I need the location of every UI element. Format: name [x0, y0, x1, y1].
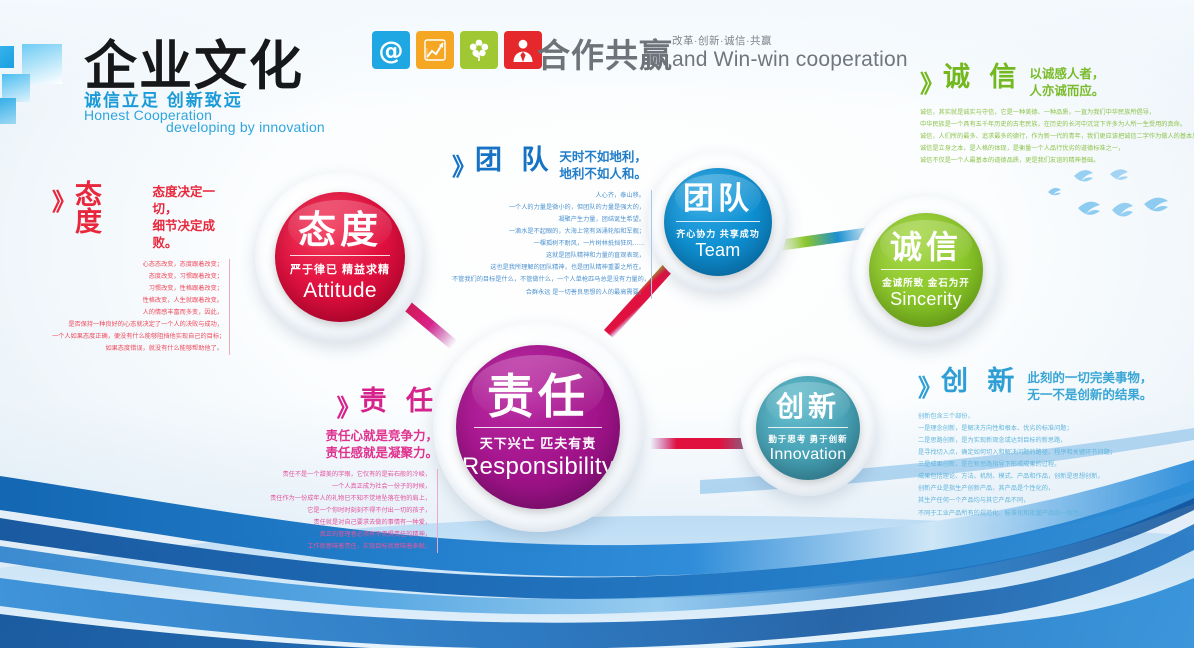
- body-line: 不同于工业产品所有的规范化、标准化和批量产品的一致性。: [918, 508, 1192, 520]
- block-motto-innovation-1: 此刻的一切完美事物，: [1027, 370, 1152, 387]
- body-line: 工作就意味着责任，实现目标就意味着奉献。: [242, 541, 431, 553]
- body-line: 责任就是对自己要求去做的事情有一种爱，: [242, 517, 431, 529]
- body-line: 责任作为一份成年人的礼物已不知不觉地坠落在他的肩上，: [242, 493, 431, 505]
- text-block-sincerity: 》 诚 信 以诚感人者， 人亦诚而应。 诚信，其实就是诚实与守信，它是一种美德、…: [920, 64, 1192, 167]
- chevron-icon: 》: [918, 368, 937, 403]
- body-line: 一滴水是不起眼的，大海上常有汹涌轮船和军舰；: [452, 226, 645, 238]
- body-line: 合群永远 是一切善良思想的人的最高需要。: [452, 287, 645, 299]
- block-motto-team-2: 地利不如人和。: [559, 166, 647, 183]
- body-line: 一个人的力量是微小的，但团队的力量是强大的，: [452, 202, 645, 214]
- body-line: 它是一个你时时刻刻不得不付出一切的孩子，: [242, 505, 431, 517]
- block-body-innovation: 创新包含三个部份，一是理念创新，是解决方向性和根本、优劣的标准问题；二是思路创新…: [918, 411, 1192, 520]
- body-line: 诚信，人们所的最多、追求最多的德行，作为新一代的青年，我们更应该把诚信二字作为做…: [920, 131, 1192, 143]
- body-line: 责任不是一个甜美的字眼，它仅有的是岩石般的冷峻，: [242, 469, 431, 481]
- chevron-icon: 》: [920, 64, 939, 99]
- body-line: 这就是团队精神和力量的直观表现，: [452, 250, 645, 262]
- block-motto-attitude-2: 细节决定成败。: [152, 218, 230, 252]
- block-title-sincerity: 诚 信: [943, 64, 1021, 91]
- block-motto-responsibility-1: 责任心就是竞争力，: [325, 428, 438, 445]
- birds-flock-icon: [1040, 168, 1190, 258]
- block-title-team: 团 队: [475, 147, 553, 174]
- node-attitude-en: Attitude: [303, 279, 377, 302]
- block-motto-innovation-2: 无一不是创新的结果。: [1027, 387, 1152, 404]
- node-innovation-en: Innovation: [770, 446, 847, 464]
- node-sincerity[interactable]: 诚信 金诚所致 金石为开 Sincerity: [852, 196, 1000, 344]
- block-motto-sincerity-2: 人亦诚而应。: [1029, 83, 1104, 100]
- body-line: 诚信，其实就是诚实与守信，它是一种美德、一种品质，一直为我们中华民族所倡导，: [920, 107, 1192, 119]
- block-body-responsibility: 责任不是一个甜美的字眼，它仅有的是岩石般的冷峻，一个人真正成为社会一份子的时候，…: [242, 469, 438, 554]
- node-innovation[interactable]: 创新 勤于思考 勇于创新 Innovation: [740, 360, 876, 496]
- text-block-responsibility: 》 责 任 责任心就是竞争力， 责任感就是凝聚力。 责任不是一个甜美的字眼，它仅…: [242, 388, 438, 553]
- chevron-icon: 》: [337, 388, 356, 423]
- body-line: 一个人真正成为社会一份子的时候，: [242, 481, 431, 493]
- body-line: 创新产业是指生产创新产品，其产品是个性化的，: [918, 483, 1192, 495]
- body-line: 真正的管理者必须有不畏惧责任的精神，: [242, 529, 431, 541]
- block-title-attitude: 态 度: [75, 182, 144, 236]
- chevron-icon: 》: [452, 147, 471, 182]
- block-body-team: 人心齐，泰山移。一个人的力量是微小的，但团队的力量是强大的，凝聚产生力量，团结诞…: [452, 190, 652, 299]
- node-attitude-slogan: 严于律已 精益求精: [290, 261, 390, 277]
- node-attitude-title: 态度: [298, 211, 382, 249]
- body-line: 中华民族是一个具有五千年历史的古老民族，在历史的长河中沉淀下许多为人所一生受用的…: [920, 119, 1192, 131]
- node-innovation-disc: 创新 勤于思考 勇于创新 Innovation: [756, 376, 860, 480]
- node-responsibility[interactable]: 责任 天下兴亡 匹夫有责 Responsibility: [433, 322, 643, 532]
- node-sincerity-en: Sincerity: [890, 290, 962, 310]
- text-block-team: 》 团 队 天时不如地利， 地利不如人和。 人心齐，泰山移。一个人的力量是微小的…: [452, 147, 652, 299]
- body-line: 习惯改变，性格跟着改变；: [52, 283, 223, 295]
- node-innovation-slogan: 勤于思考 勇于创新: [768, 433, 847, 445]
- body-line: 是寻找切入点，确定如何切入和解决问题的路径、程序和关键环节问题；: [918, 447, 1192, 459]
- chevron-icon: 》: [52, 182, 71, 217]
- body-line: 如果态度错误，就没有什么能够帮助他了。: [52, 343, 223, 355]
- node-responsibility-disc: 责任 天下兴亡 匹夫有责 Responsibility: [456, 345, 620, 509]
- body-line: 人心齐，泰山移。: [452, 190, 645, 202]
- node-attitude[interactable]: 态度 严于律已 精益求精 Attitude: [255, 172, 425, 342]
- block-body-attitude: 心态态改变，态度跟着改变；态度改变，习惯跟着改变；习惯改变，性格跟着改变；性格改…: [52, 259, 230, 356]
- body-line: 诚信不仅是一个人最基本的道德品质，更是我们友谊的精神基础。: [920, 155, 1192, 167]
- node-responsibility-slogan: 天下兴亡 匹夫有责: [480, 433, 597, 452]
- body-line: 诚信是立身之本，是人格的体现，是衡量一个人品行优劣的道德标准之一，: [920, 143, 1192, 155]
- body-line: 是否保持一种良好的心态就决定了一个人的决败与成功，: [52, 319, 223, 331]
- body-line: 一个人如果态度正确，便没有什么能够阻挡他实现自己的目标；: [52, 331, 223, 343]
- block-body-sincerity: 诚信，其实就是诚实与守信，它是一种美德、一种品质，一直为我们中华民族所倡导，中华…: [920, 107, 1192, 167]
- body-line: 二是思路创新，是为实现新观念或达到目标的新思路，: [918, 435, 1192, 447]
- node-innovation-title: 创新: [776, 393, 840, 421]
- body-line: 不管我们的目标是什么，不管做什么，一个人单枪匹马总是没有力量的，: [452, 274, 645, 286]
- body-line: 成果包括理论、方法、机制、模式、产品和作品，创新是思想创新，: [918, 471, 1192, 483]
- node-team-en: Team: [695, 241, 740, 261]
- node-sincerity-title: 诚信: [890, 231, 962, 263]
- body-line: 一是理念创新，是解决方向性和根本、优劣的标准问题；: [918, 423, 1192, 435]
- poster-canvas: 企业文化 诚信立足 创新致远 Honest Cooperation develo…: [0, 0, 1194, 648]
- node-sincerity-slogan: 金诚所致 金石为开: [882, 275, 970, 289]
- body-line: 一棵孤树不耐风，一片树林抵挡狂风……: [452, 238, 645, 250]
- block-title-responsibility: 责 任: [360, 388, 438, 415]
- node-responsibility-title: 责任: [487, 374, 589, 421]
- block-motto-team-1: 天时不如地利，: [559, 149, 647, 166]
- node-responsibility-en: Responsibility: [462, 454, 614, 480]
- block-motto-responsibility-2: 责任感就是凝聚力。: [325, 445, 438, 462]
- body-line: 性格改变，人生就跟着改变。: [52, 295, 223, 307]
- body-line: 创新包含三个部份，: [918, 411, 1192, 423]
- body-line: 这也是我所理解的团队精神，也是团队精神重要之所在。: [452, 262, 645, 274]
- body-line: 心态态改变，态度跟着改变；: [52, 259, 223, 271]
- body-line: 其生产任何一个产品均与其它产品不同，: [918, 495, 1192, 507]
- node-team-title: 团队: [683, 184, 753, 215]
- block-title-innovation: 创 新: [941, 368, 1019, 395]
- block-motto-attitude-1: 态度决定一切，: [152, 184, 230, 218]
- body-line: 态度改变，习惯跟着改变；: [52, 271, 223, 283]
- body-line: 凝聚产生力量，团结诞生希望。: [452, 214, 645, 226]
- body-line: 人的情感丰富而多变，因此，: [52, 307, 223, 319]
- node-team[interactable]: 团队 齐心协力 共享成功 Team: [648, 152, 788, 292]
- node-attitude-disc: 态度 严于律已 精益求精 Attitude: [275, 192, 405, 322]
- node-sincerity-disc: 诚信 金诚所致 金石为开 Sincerity: [869, 213, 983, 327]
- block-motto-sincerity-1: 以诚感人者，: [1029, 66, 1104, 83]
- text-block-innovation: 》 创 新 此刻的一切完美事物， 无一不是创新的结果。 创新包含三个部份，一是理…: [918, 368, 1192, 520]
- node-team-slogan: 齐心协力 共享成功: [676, 227, 760, 240]
- node-team-disc: 团队 齐心协力 共享成功 Team: [664, 168, 772, 276]
- text-block-attitude: 》 态 度 态度决定一切， 细节决定成败。 心态态改变，态度跟着改变；态度改变，…: [52, 182, 230, 355]
- body-line: 三是成果创新，是在新思路指导下形成成果的过程。: [918, 459, 1192, 471]
